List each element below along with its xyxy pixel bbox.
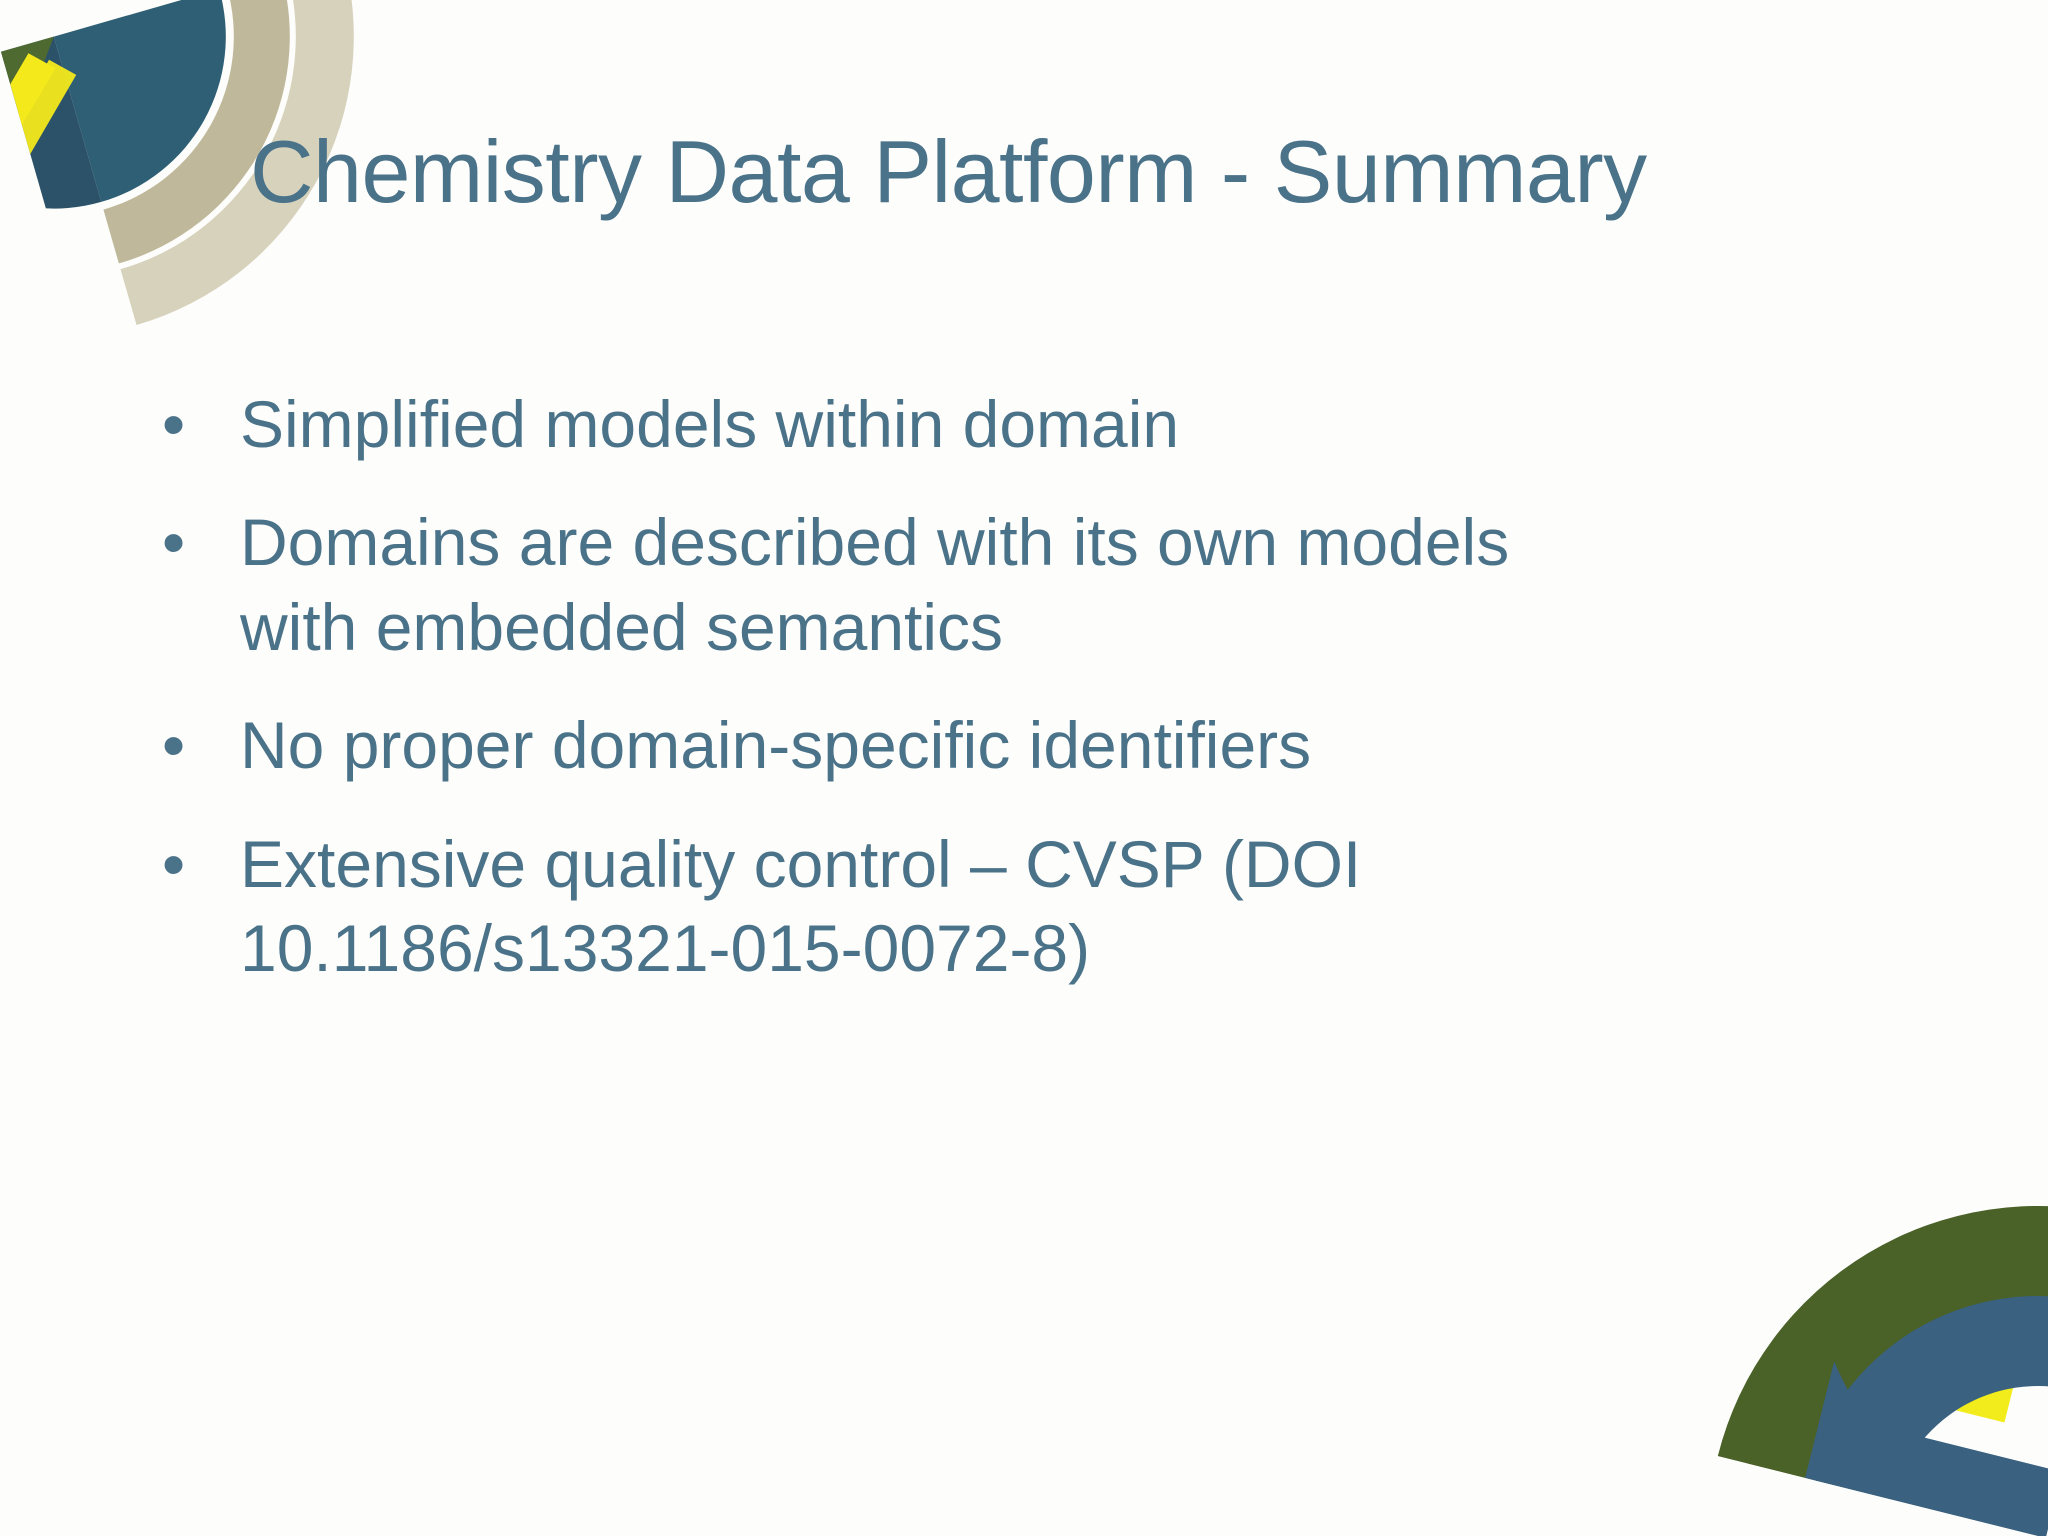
corner-arc-ornament-bottom-right-svg (1568, 1116, 2048, 1536)
bullet-text: Extensive quality control – CVSP (DOI 10… (240, 822, 1940, 991)
bullet-line-2: 10.1186/s13321-015-0072-8) (240, 906, 1940, 990)
bullet-item: • No proper domain-specific identifiers (140, 703, 1980, 787)
bullet-line-1: Extensive quality control – CVSP (DOI (240, 827, 1361, 901)
bullet-text: Domains are described with its own model… (240, 500, 1940, 669)
bullet-item: • Simplified models within domain (140, 382, 1980, 466)
bullet-text: Simplified models within domain (240, 382, 1940, 466)
bullet-dot-icon: • (140, 500, 240, 584)
bullet-line-1: No proper domain-specific identifiers (240, 708, 1311, 782)
bullet-dot-icon: • (140, 822, 240, 906)
slide-canvas: Chemistry Data Platform - Summary • Simp… (0, 0, 2048, 1536)
bullet-item: • Extensive quality control – CVSP (DOI … (140, 822, 1980, 991)
bullet-list: • Simplified models within domain • Doma… (140, 382, 1980, 1025)
bullet-line-1: Simplified models within domain (240, 387, 1179, 461)
bullet-dot-icon: • (140, 382, 240, 466)
slide-title: Chemistry Data Platform - Summary (250, 126, 1950, 218)
bullet-line-1: Domains are described with its own model… (240, 505, 1509, 579)
bullet-line-2: with embedded semantics (240, 585, 1940, 669)
bullet-item: • Domains are described with its own mod… (140, 500, 1980, 669)
bullet-text: No proper domain-specific identifiers (240, 703, 1940, 787)
corner-arc-ornament-bottom-right (1568, 1116, 2048, 1536)
bullet-dot-icon: • (140, 703, 240, 787)
